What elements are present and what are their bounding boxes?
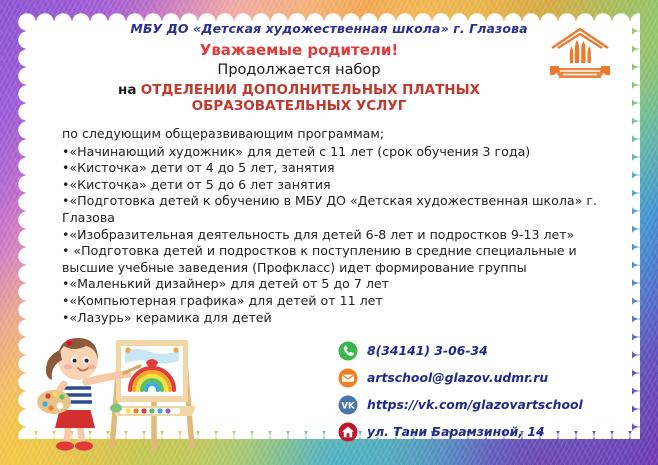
headline-caps-line2: ОБРАЗОВАТЕЛЬНЫХ УСЛУГ bbox=[0, 99, 598, 114]
headline-caps-line1: ОТДЕЛЕНИИ ДОПОЛНИТЕЛЬНЫХ ПЛАТНЫХ bbox=[141, 82, 480, 98]
program-item: •«Маленький дизайнер» для детей от 5 до … bbox=[62, 276, 610, 293]
program-item: •«Кисточка» дети от 4 до 5 лет, занятия bbox=[62, 160, 610, 177]
contact-phone-text: 8(34141) 3-06-34 bbox=[367, 343, 488, 358]
program-item: •«Изобразительная деятельность для детей… bbox=[62, 227, 610, 244]
phone-icon bbox=[338, 341, 358, 361]
contact-address[interactable]: ул. Тани Барамзиной, 14 bbox=[338, 421, 583, 442]
vk-icon: VK bbox=[338, 395, 358, 415]
girl-painting-illustration bbox=[24, 322, 220, 457]
contact-email-text: artschool@glazov.udmr.ru bbox=[367, 370, 548, 385]
poster-canvas: МБУ ДО «Детская художественная школа» г.… bbox=[0, 0, 658, 465]
programs-list: по следующим общеразвивающим программам;… bbox=[62, 126, 610, 326]
programs-intro: по следующим общеразвивающим программам; bbox=[62, 126, 610, 143]
headline-black: Продолжается набор bbox=[0, 62, 598, 78]
svg-text:VK: VK bbox=[341, 401, 355, 411]
contact-email[interactable]: artschool@glazov.udmr.ru bbox=[338, 367, 583, 388]
headline-prefix: на bbox=[118, 82, 136, 98]
headline-red: Уважаемые родители! bbox=[0, 42, 598, 59]
email-icon bbox=[338, 368, 358, 388]
program-item: •«Компьютерная графика» для детей от 11 … bbox=[62, 293, 610, 310]
program-item: • «Подготовка детей и подростков к посту… bbox=[62, 243, 610, 276]
headline-department-line1: на ОТДЕЛЕНИИ ДОПОЛНИТЕЛЬНЫХ ПЛАТНЫХ bbox=[0, 83, 598, 98]
program-item: •«Кисточка» дети от 5 до 6 лет занятия bbox=[62, 177, 610, 194]
contact-vk-text: https://vk.com/glazovartschool bbox=[367, 397, 583, 412]
program-item: •«Подготовка детей к обучению в МБУ ДО «… bbox=[62, 193, 610, 226]
contact-vk[interactable]: VK https://vk.com/glazovartschool bbox=[338, 394, 583, 415]
home-icon bbox=[338, 422, 358, 442]
program-item: •«Начинающий художник» для детей с 11 ле… bbox=[62, 144, 610, 161]
contact-address-text: ул. Тани Барамзиной, 14 bbox=[367, 424, 545, 439]
poster-content: МБУ ДО «Детская художественная школа» г.… bbox=[0, 0, 658, 465]
contact-phone[interactable]: 8(34141) 3-06-34 bbox=[338, 340, 583, 361]
contacts-block: 8(34141) 3-06-34 artschool@glazov.udmr.r… bbox=[338, 340, 583, 442]
